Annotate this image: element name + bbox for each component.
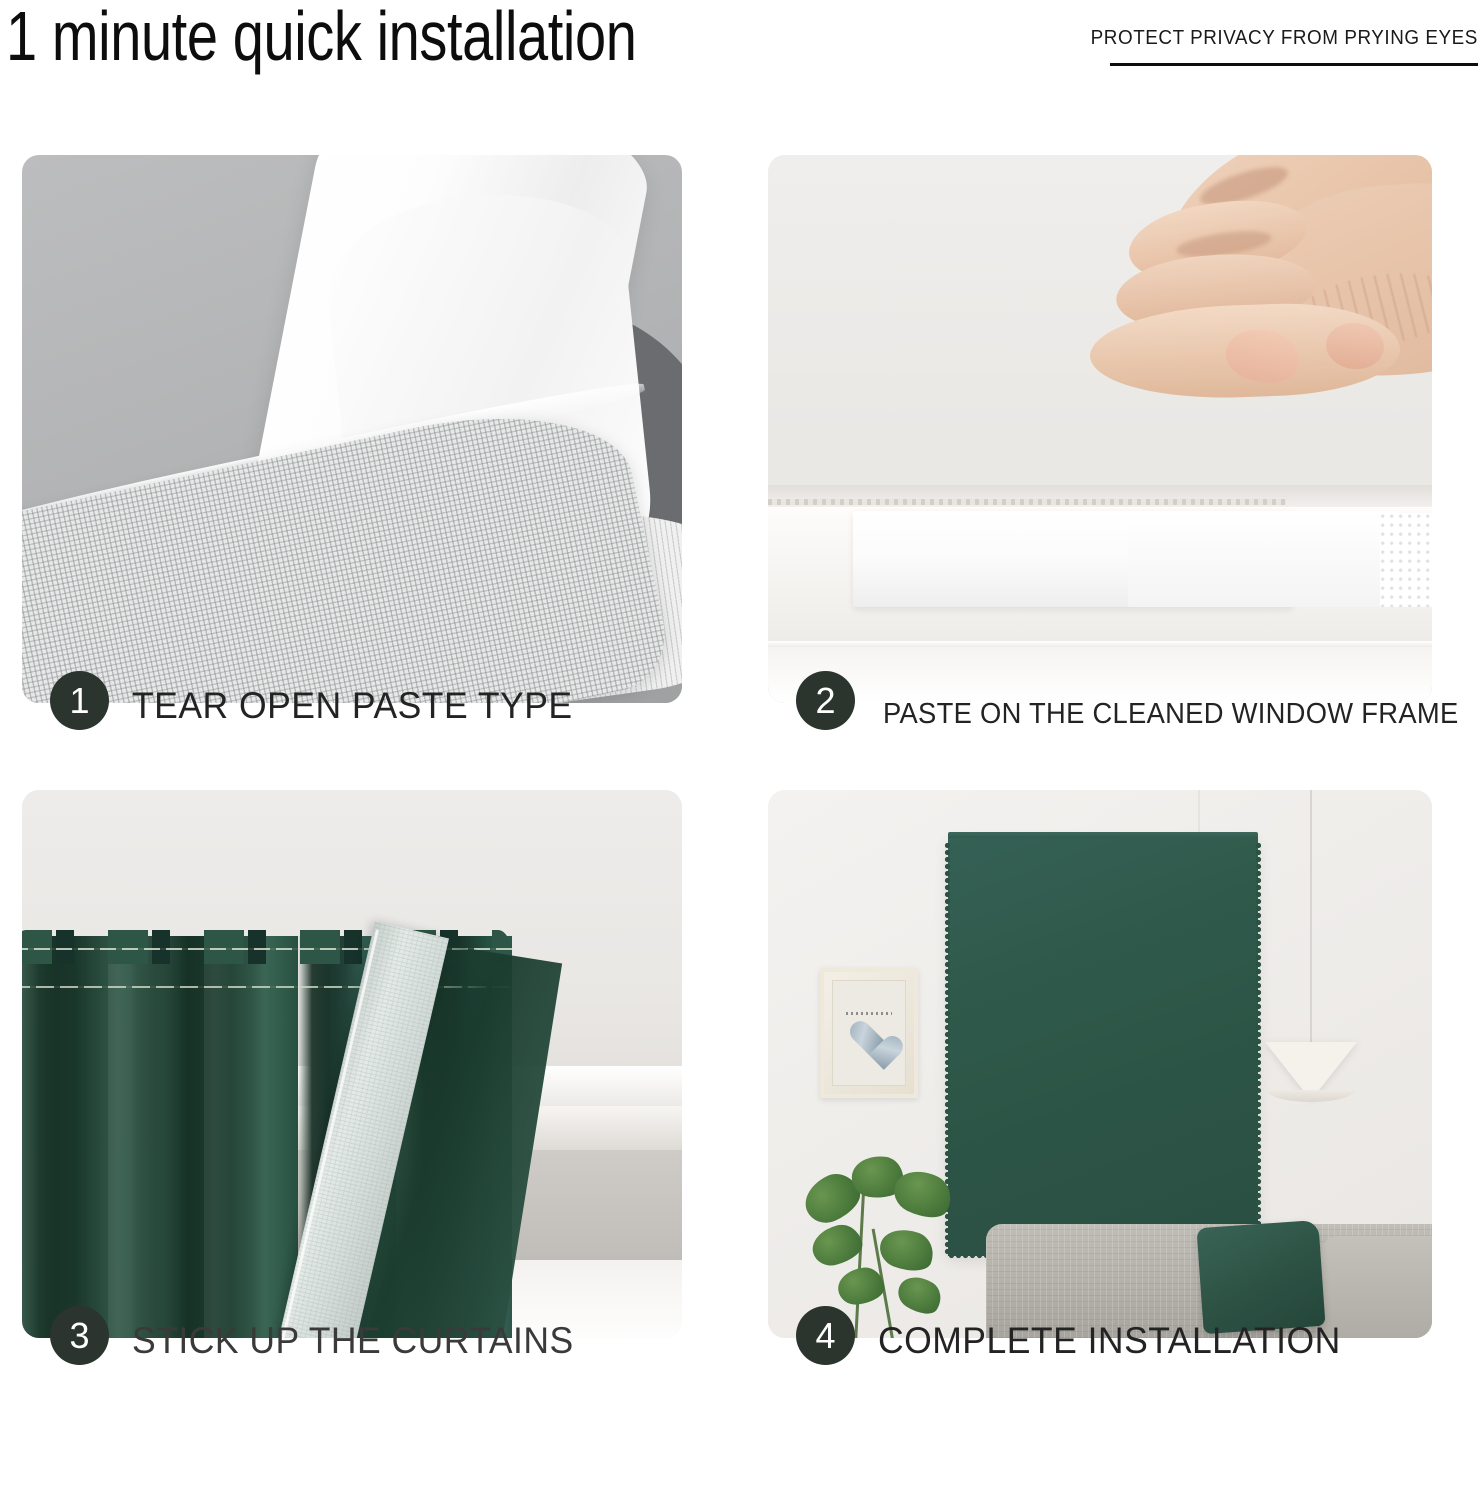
tagline-block: PROTECT PRIVACY FROM PRYING EYES [1057,26,1478,66]
step-caption-4: COMPLETE INSTALLATION [878,1318,1341,1364]
hand-icon [1098,155,1432,455]
plant-leaf [892,1269,947,1321]
window-frame-seam [768,499,1286,505]
step-2-caption-row: 2 PASTE ON THE CLEANED WINDOW FRAME [768,703,1432,785]
tagline-underline [1110,63,1478,66]
applied-tape-strip-second [1128,511,1398,607]
step-2-photo [768,155,1432,703]
green-throw-pillow [1196,1220,1325,1334]
step-4-caption-row: 4 COMPLETE INSTALLATION [768,1338,1432,1420]
step-badge-1: 1 [50,671,109,730]
step-card-2: 2 PASTE ON THE CLEANED WINDOW FRAME [768,155,1432,785]
step-badge-2: 2 [796,671,855,730]
heart-icon [848,1022,890,1060]
installation-steps-grid: 1 TEAR OPEN PASTE TYPE [0,150,1484,1450]
step-card-4: 4 COMPLETE INSTALLATION [768,790,1432,1420]
plant-stem-main [854,1188,865,1338]
page-header: 1 minute quick installation PROTECT PRIV… [0,0,1484,150]
step-3-photo [22,790,682,1338]
pendant-lamp-cord [1310,790,1312,1045]
plant-leaf [808,1221,866,1270]
wall-art-mat [832,980,906,1086]
curtain-picot-edge-right [1255,842,1262,1256]
step-caption-3: STICK UP THE CURTAINS [132,1318,574,1364]
page-title: 1 minute quick installation [6,0,636,76]
step-3-caption-row: 3 STICK UP THE CURTAINS [22,1338,682,1420]
wall-art-frame [820,968,918,1098]
step-caption-1: TEAR OPEN PASTE TYPE [132,683,573,729]
step-1-caption-row: 1 TEAR OPEN PASTE TYPE [22,703,682,785]
step-caption-2: PASTE ON THE CLEANED WINDOW FRAME [883,691,1459,737]
plant-leaf [875,1222,939,1278]
tagline-text: PROTECT PRIVACY FROM PRYING EYES [1091,26,1478,50]
step-badge-4: 4 [796,1306,855,1365]
wall-art-caption-text [846,1012,892,1015]
step-1-photo [22,155,682,703]
velcro-patch [1380,513,1432,607]
step-card-1: 1 TEAR OPEN PASTE TYPE [22,155,682,785]
step-badge-3: 3 [50,1306,109,1365]
step-4-photo [768,790,1432,1338]
installed-green-curtain [948,838,1258,1256]
step-card-3: 3 STICK UP THE CURTAINS [22,790,682,1420]
